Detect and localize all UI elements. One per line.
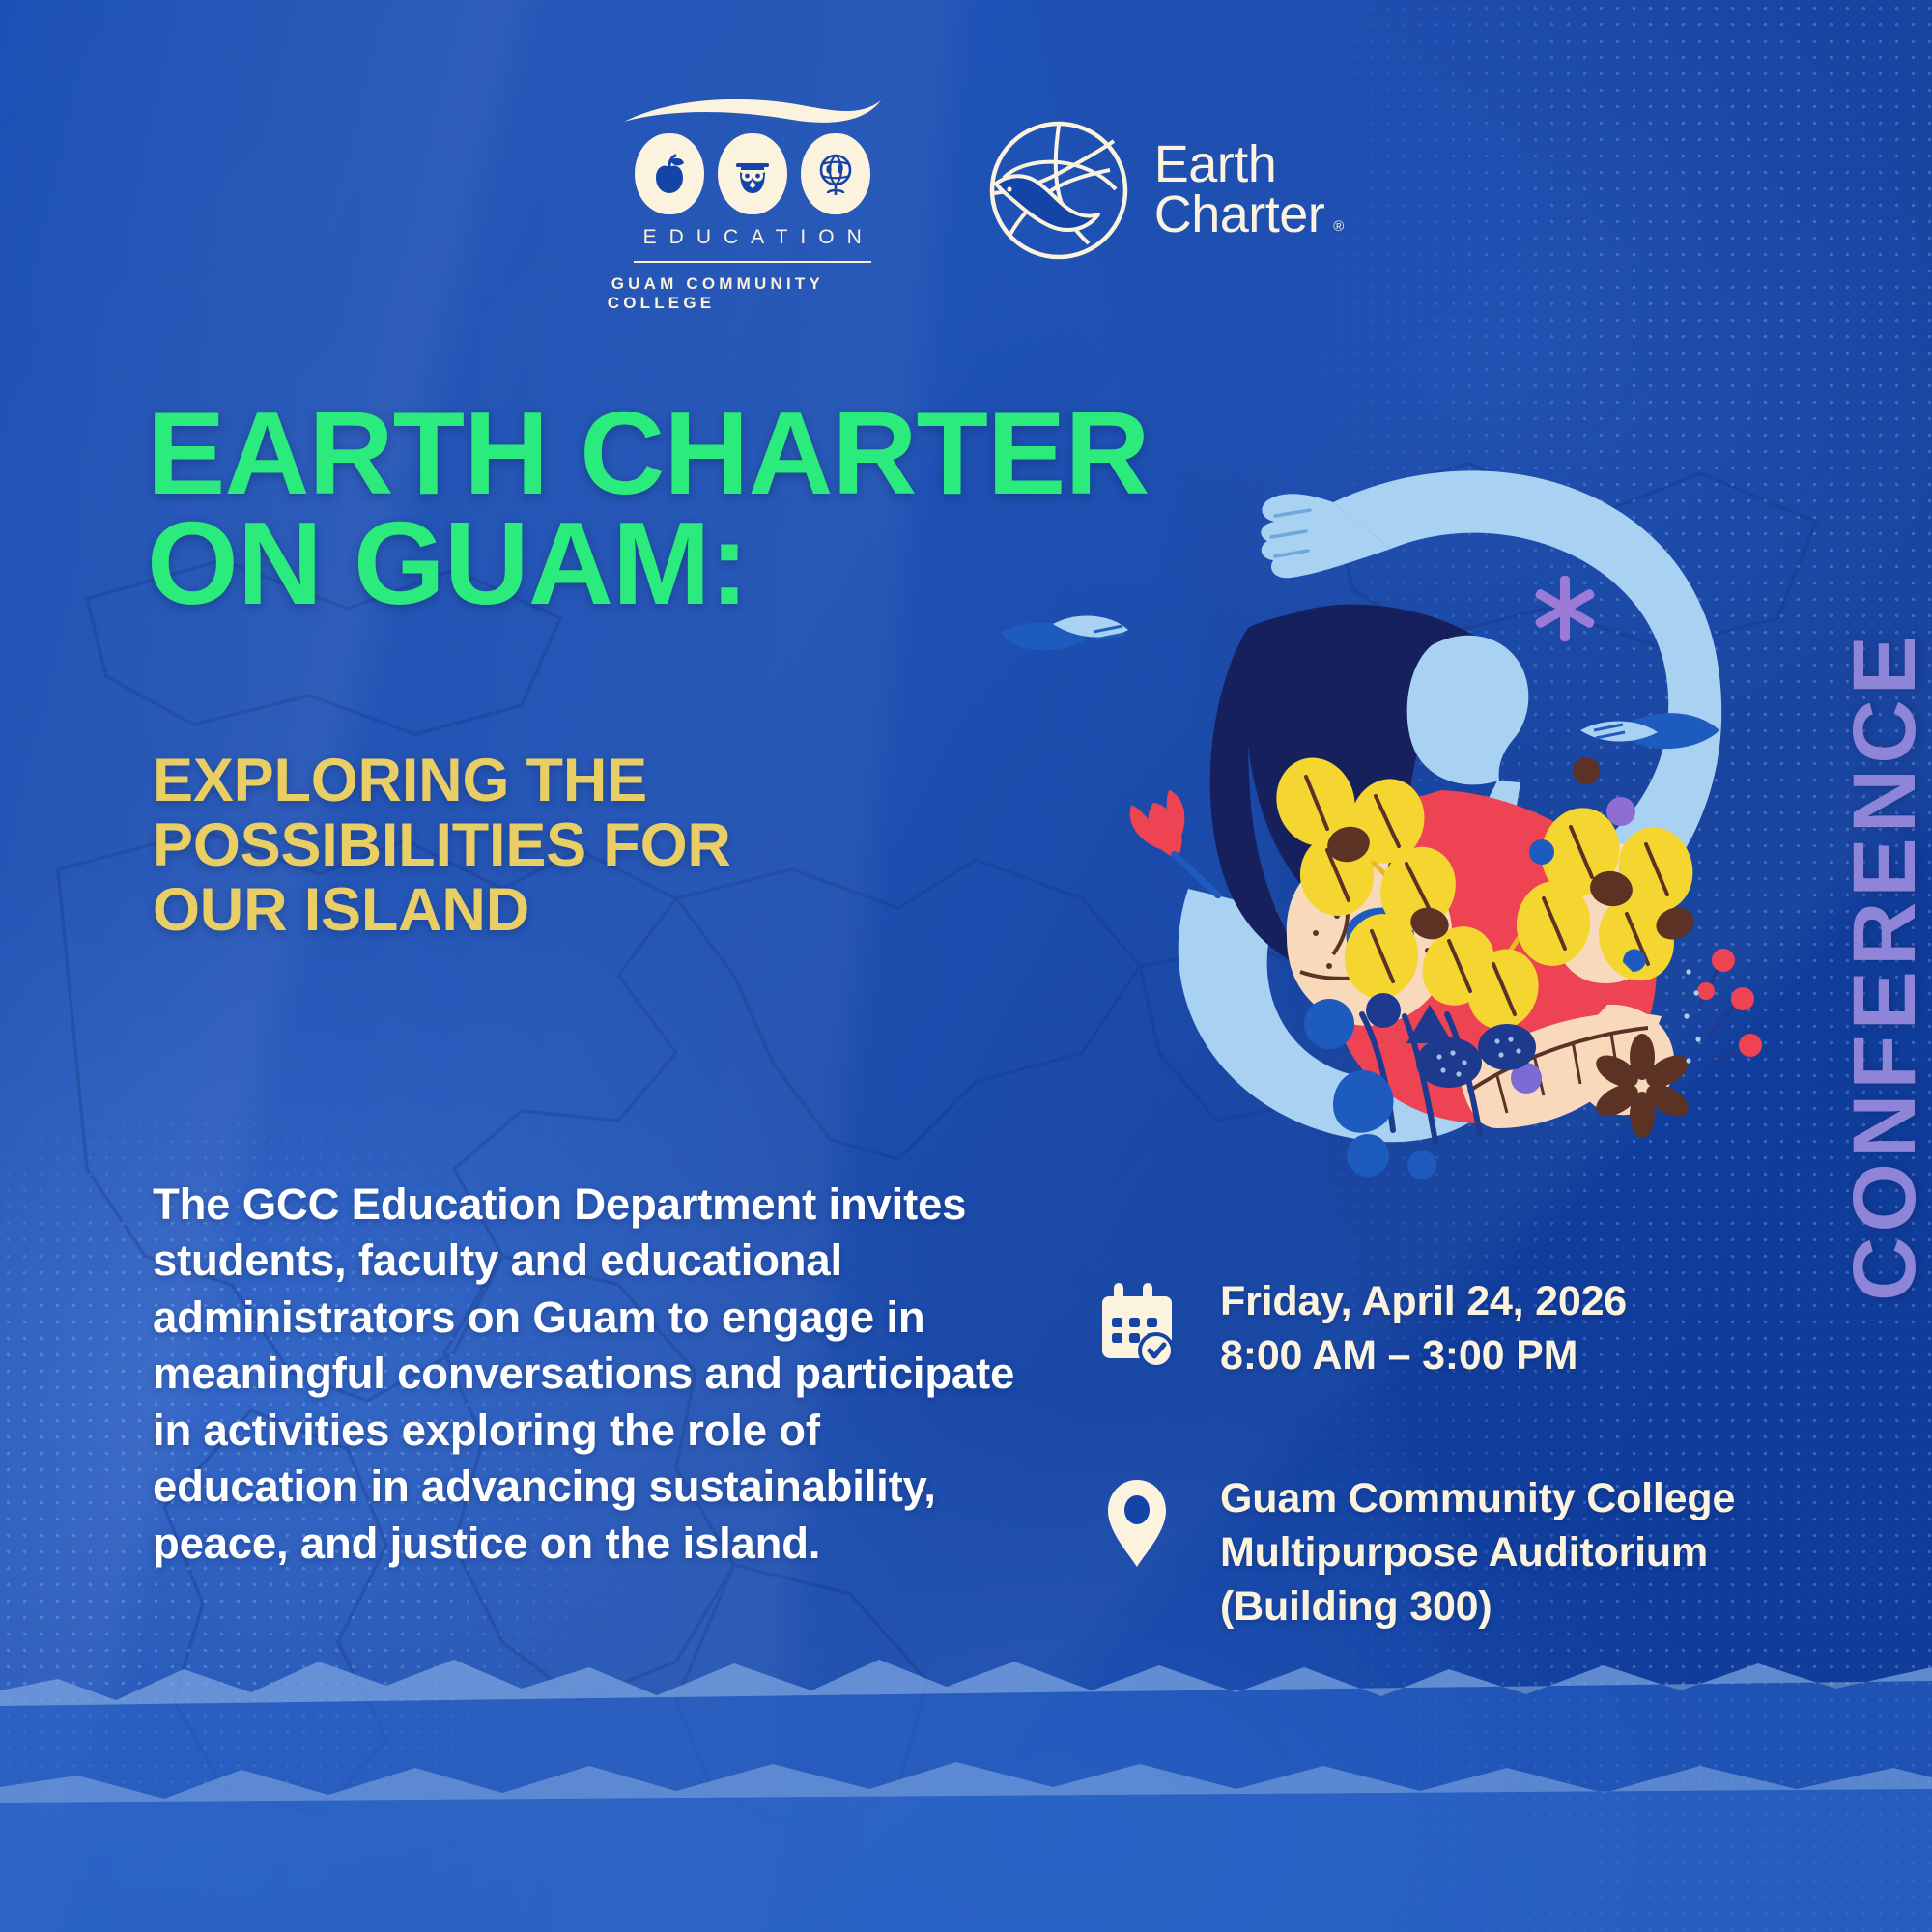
ec-line-2: Charter: [1154, 190, 1325, 241]
event-date: Friday, April 24, 2026: [1220, 1275, 1627, 1329]
gcc-wordmark: EDUCATION: [631, 226, 874, 249]
swoosh-icon: [622, 97, 883, 129]
logo-row: EDUCATION GUAM COMMUNITY COLLEGE Earth C…: [0, 97, 1932, 313]
location-block: Guam Community College Multipurpose Audi…: [1096, 1472, 1792, 1634]
earth-charter-logo: Earth Charter ®: [986, 118, 1325, 263]
venue-name: Guam Community College: [1220, 1472, 1735, 1526]
calendar-check-icon: [1096, 1275, 1178, 1370]
earth-charter-globe-dove-icon: [986, 118, 1131, 263]
poster-canvas: EDUCATION GUAM COMMUNITY COLLEGE Earth C…: [0, 0, 1932, 1932]
page-title: EARTH CHARTER ON GUAM:: [147, 398, 1296, 618]
page-subtitle: EXPLORING THE POSSIBILITIES FOR OUR ISLA…: [153, 749, 945, 942]
venue-building: (Building 300): [1220, 1580, 1735, 1634]
globe-icon: [801, 133, 870, 214]
earth-charter-wordmark: Earth Charter ®: [1154, 140, 1325, 241]
subhead-line-2: POSSIBILITIES FOR: [153, 813, 945, 878]
venue-room: Multipurpose Auditorium: [1220, 1526, 1735, 1580]
gcc-subtitle: GUAM COMMUNITY COLLEGE: [608, 274, 897, 313]
owl-icon: [718, 133, 787, 214]
headline-line-2: ON GUAM:: [147, 508, 1296, 618]
body-paragraph: The GCC Education Department invites stu…: [153, 1177, 1022, 1572]
location-text: Guam Community College Multipurpose Audi…: [1220, 1472, 1735, 1634]
subhead-line-1: EXPLORING THE: [153, 749, 945, 813]
conference-side-banner: CONFERENCE: [1834, 631, 1932, 1301]
event-time: 8:00 AM – 3:00 PM: [1220, 1329, 1627, 1383]
date-time-text: Friday, April 24, 2026 8:00 AM – 3:00 PM: [1220, 1275, 1627, 1383]
subhead-line-3: OUR ISLAND: [153, 878, 945, 943]
date-time-block: Friday, April 24, 2026 8:00 AM – 3:00 PM: [1096, 1275, 1792, 1383]
apple-icon: [635, 133, 704, 214]
map-pin-icon: [1096, 1472, 1178, 1569]
star-accent: [1534, 576, 1596, 641]
gcc-divider-rule: [634, 261, 871, 263]
ec-line-1: Earth: [1154, 140, 1325, 190]
event-details: Friday, April 24, 2026 8:00 AM – 3:00 PM…: [1096, 1275, 1792, 1634]
gcc-education-logo: EDUCATION GUAM COMMUNITY COLLEGE: [608, 97, 897, 313]
gcc-icon-group: [635, 133, 870, 214]
registered-mark: ®: [1333, 220, 1344, 234]
